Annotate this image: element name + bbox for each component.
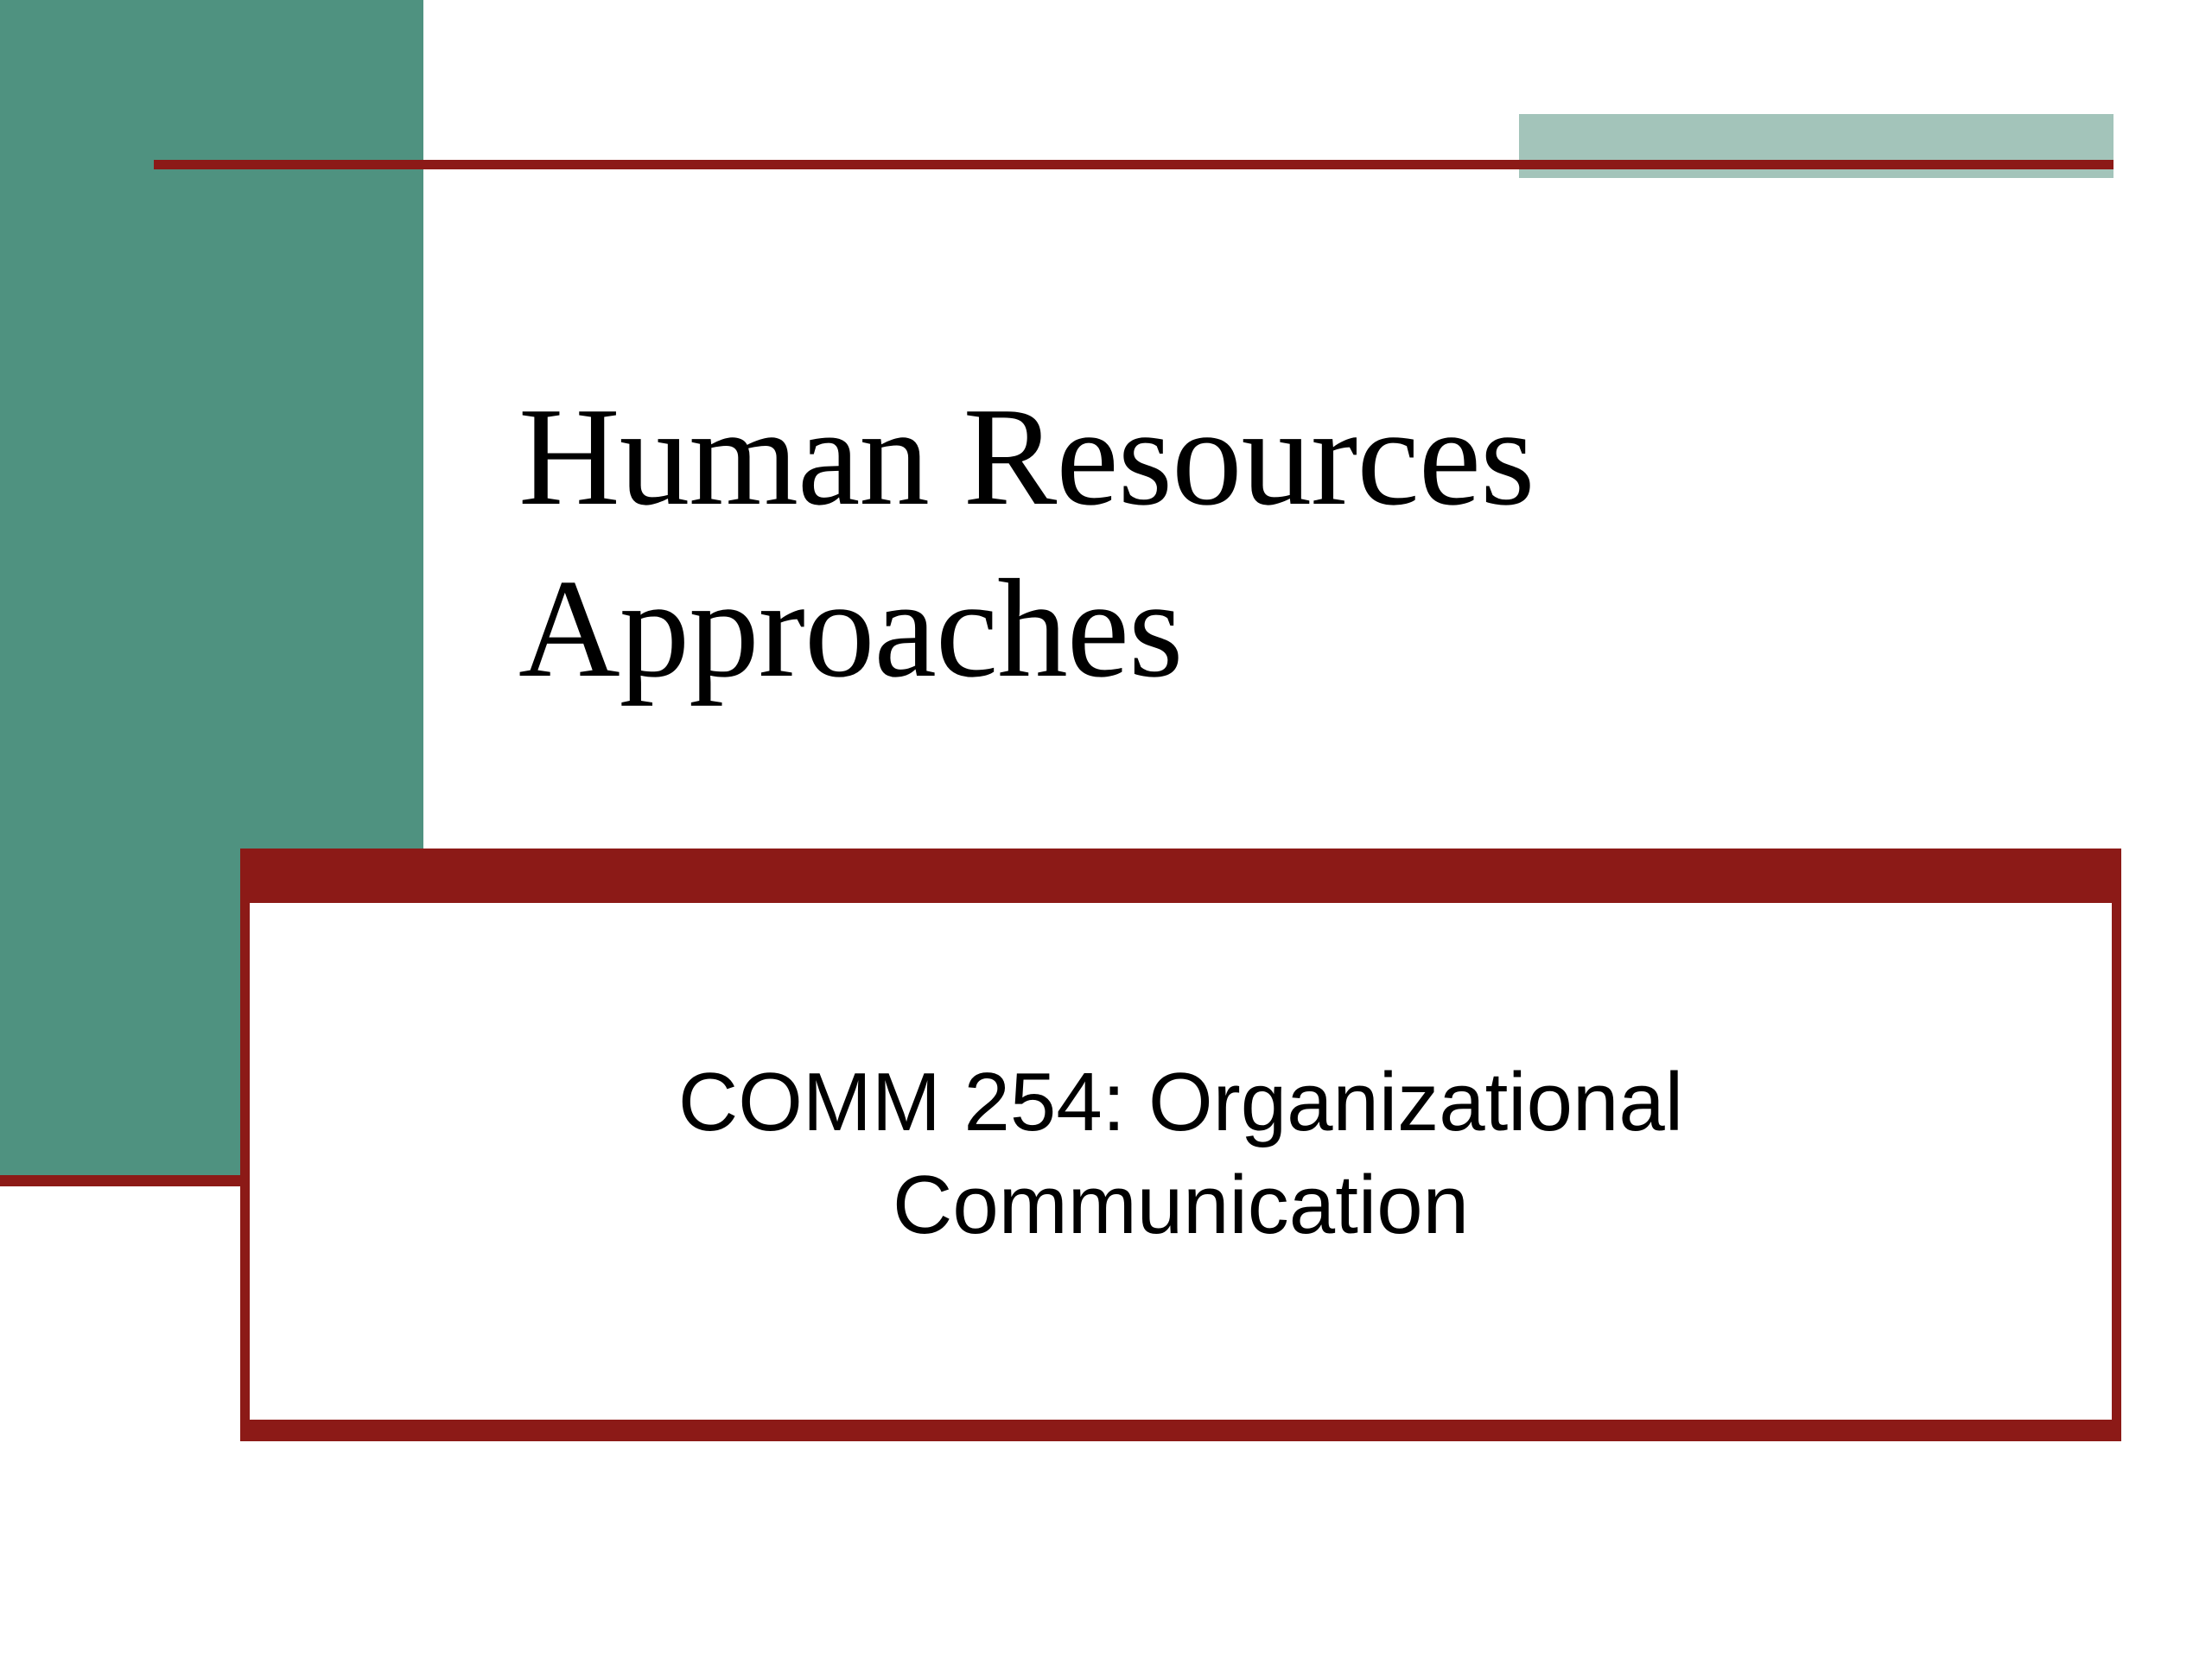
subtitle-inner-container: COMM 254: Organizational Communication xyxy=(250,903,2112,1420)
bottom-left-horizontal-rule-decoration xyxy=(0,1175,249,1186)
top-horizontal-rule-decoration xyxy=(154,160,2113,169)
presentation-slide: Human Resources Approaches COMM 254: Org… xyxy=(0,0,2212,1659)
subtitle-frame: COMM 254: Organizational Communication xyxy=(240,849,2121,1441)
slide-subtitle: COMM 254: Organizational Communication xyxy=(575,1051,1787,1256)
slide-title: Human Resources Approaches xyxy=(518,372,2056,715)
